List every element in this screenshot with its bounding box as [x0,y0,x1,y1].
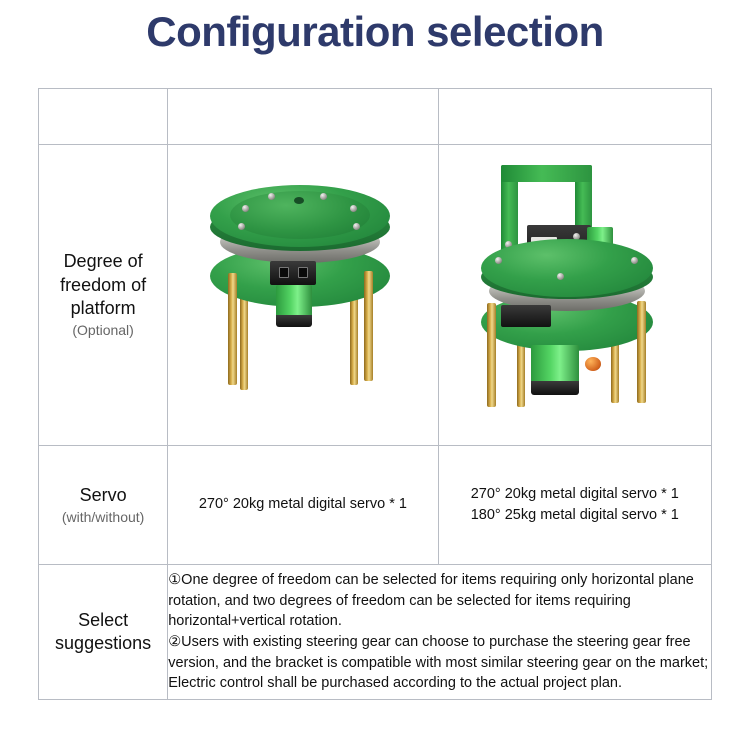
table-header-row: 1-DOF servo platform 2-DOF servo platfor… [39,89,712,145]
connector-pin [279,267,289,278]
row-label-servo: Servo (with/without) [39,446,168,565]
connector-block [270,261,316,285]
suggestion-item: ①One degree of freedom can be selected f… [168,570,711,632]
screw [495,257,502,264]
header-1dof: 1-DOF servo platform [168,89,438,145]
table-row: Servo (with/without) 270° 20kg metal dig… [39,446,712,565]
cable-connector [585,357,601,371]
standoff-post [487,303,496,407]
pan-servo-body [531,345,579,385]
row-label-sub: (with/without) [39,508,167,526]
cell-select-suggestions: ①One degree of freedom can be selected f… [168,565,712,700]
standoff-post [228,273,237,385]
table-row: Degree of freedom of platform (Optional) [39,145,712,446]
header-2dof: 2-DOF servo platform [438,89,711,145]
row-label-select-suggestions: Select suggestions [39,565,168,700]
pan-servo-base [531,381,579,395]
servo-base [276,315,312,327]
screw [557,273,564,280]
header-blank-cell [39,89,168,145]
row-label-main: Servo [39,484,167,507]
cell-2dof-servo-spec: 270° 20kg metal digital servo * 1 180° 2… [438,446,711,565]
screw [631,257,638,264]
row-label-sub: (Optional) [39,321,167,339]
suggestion-item: ②Users with existing steering gear can c… [168,632,711,694]
product-image-2dof [439,145,711,445]
row-label-main: Select suggestions [39,609,167,656]
control-board [501,305,551,327]
standoff-post [364,271,373,381]
upper-plate [481,239,653,297]
standoff-post [637,301,646,403]
product-image-1dof [168,145,437,445]
servo-spec-line: 270° 20kg metal digital servo * 1 [439,484,711,505]
configuration-table: 1-DOF servo platform 2-DOF servo platfor… [38,88,712,700]
row-label-main: Degree of freedom of platform [39,250,167,320]
connector-pin [298,267,308,278]
row-label-degree-of-freedom: Degree of freedom of platform (Optional) [39,145,168,446]
bracket-top-bar [501,165,592,182]
servo-spec-line: 270° 20kg metal digital servo * 1 [168,494,437,515]
servo-spec-line: 180° 25kg metal digital servo * 1 [439,505,711,526]
servo-body [276,285,312,319]
cell-1dof-image [168,145,438,446]
page-title: Configuration selection [0,8,750,56]
cell-2dof-image [438,145,711,446]
cell-1dof-servo-spec: 270° 20kg metal digital servo * 1 [168,446,438,565]
table-row: Select suggestions ①One degree of freedo… [39,565,712,700]
